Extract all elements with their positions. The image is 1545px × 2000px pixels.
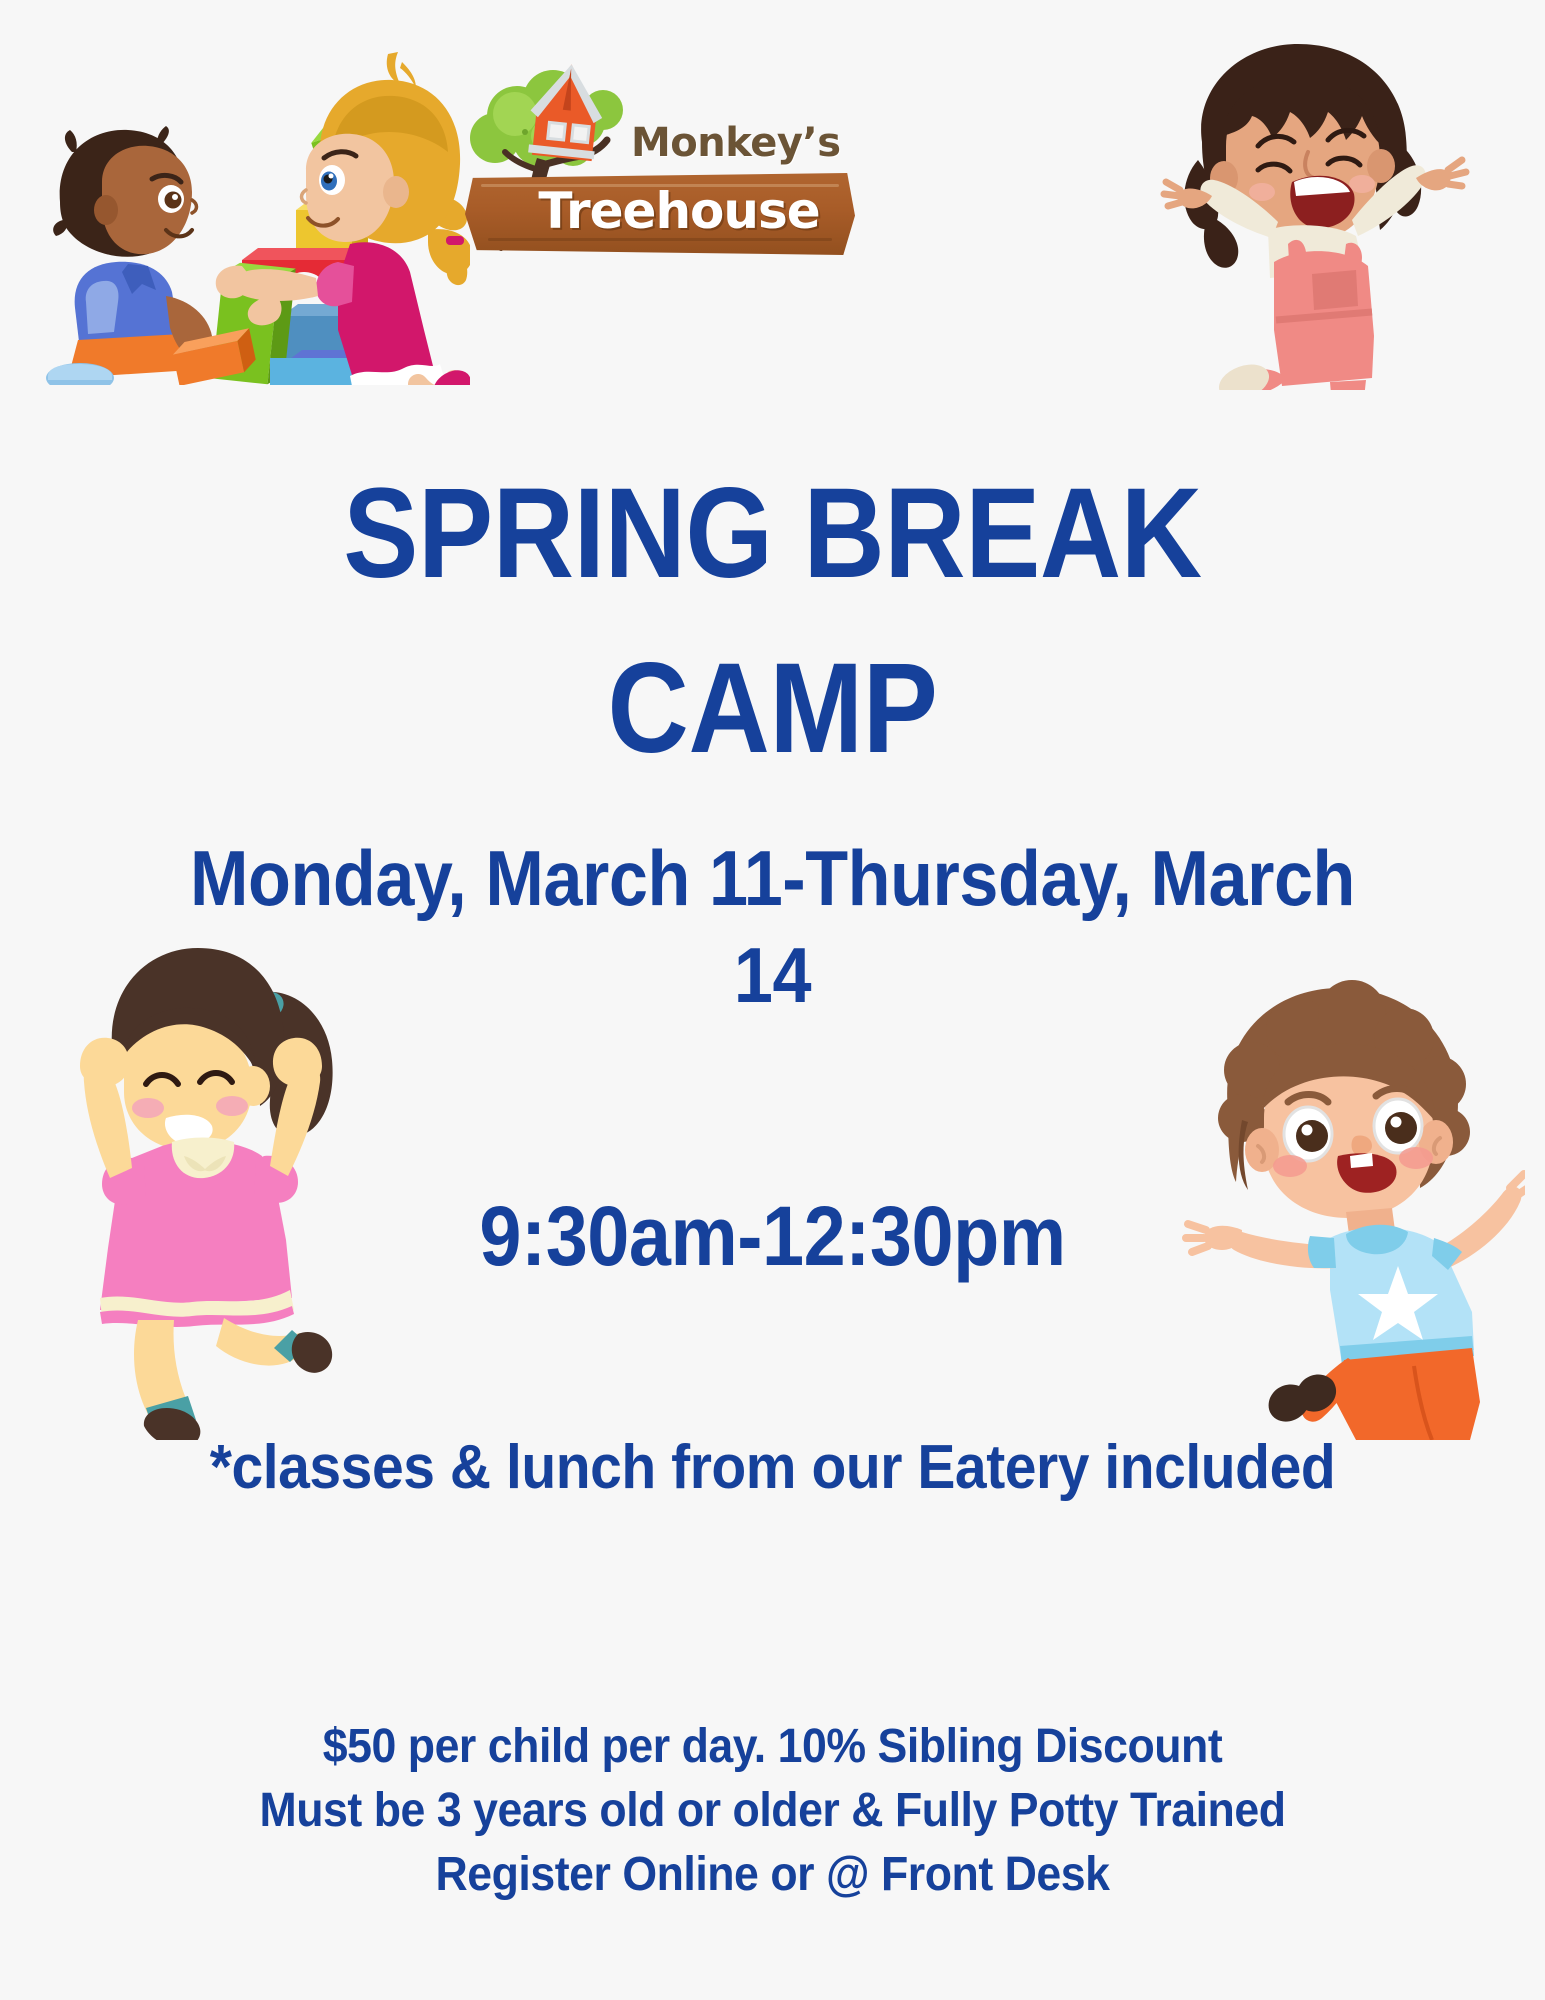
logo-text-monkeys: Monkey’s: [631, 120, 841, 166]
camp-details-age: Must be 3 years old or older & Fully Pot…: [166, 1779, 1380, 1843]
logo-text-treehouse: Treehouse: [455, 182, 855, 240]
page-title-line1: SPRING BREAK: [93, 470, 1453, 598]
camp-details-price: $50 per child per day. 10% Sibling Disco…: [166, 1715, 1380, 1779]
camp-details: $50 per child per day. 10% Sibling Disco…: [54, 1715, 1491, 1906]
page-title-line2: CAMP: [93, 645, 1453, 773]
logo-monkeys-treehouse: Monkey’s Treehouse: [455, 48, 855, 263]
kids-blocks-svg: [20, 40, 470, 385]
girl-arms-up-svg: [1150, 30, 1485, 390]
camp-inclusions-note: *classes & lunch from our Eatery include…: [62, 1430, 1483, 1506]
illustration-kids-with-blocks: [20, 40, 470, 385]
flyer-page: Monkey’s Treehouse: [0, 0, 1545, 2000]
camp-dates: Monday, March 11-Thursday, March 14: [77, 830, 1468, 1023]
illustration-girl-arms-up: [1150, 30, 1485, 390]
camp-time: 9:30am-12:30pm: [77, 1190, 1468, 1282]
camp-details-register: Register Online or @ Front Desk: [166, 1843, 1380, 1907]
